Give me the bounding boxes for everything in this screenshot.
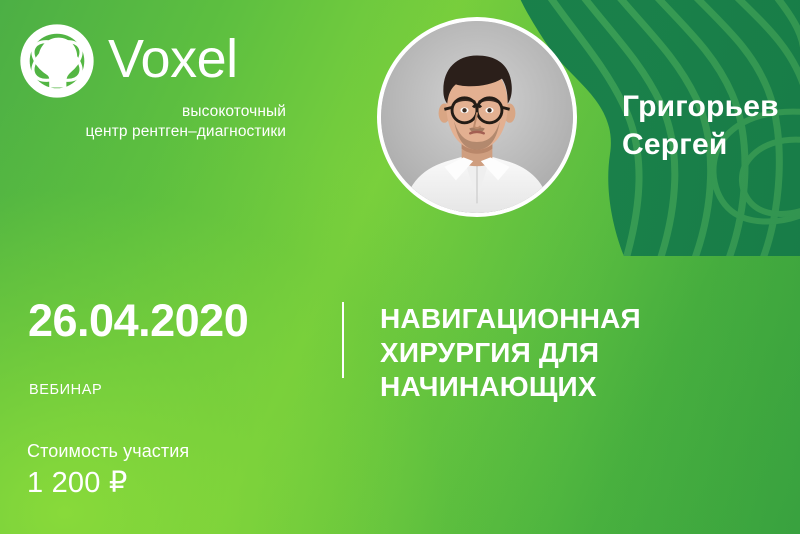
- event-kind-label: ВЕБИНАР: [29, 382, 102, 398]
- speaker-portrait-photo: [377, 17, 577, 217]
- price-value: 1 200 ₽: [27, 465, 127, 500]
- logo-tagline-line1: высокоточный: [18, 102, 286, 122]
- logo-wordmark: Voxel: [108, 32, 238, 86]
- logo-tagline-line2: центр рентген–диагностики: [18, 122, 286, 142]
- head-scan-circle-icon: [18, 22, 96, 100]
- speaker-name: Григорьев Сергей: [622, 88, 779, 163]
- event-date: 26.04.2020: [28, 298, 248, 343]
- vertical-divider: [342, 302, 344, 378]
- brand-logo[interactable]: Voxel высокоточный центр рентген–диагнос…: [18, 22, 288, 142]
- logo-row: Voxel: [18, 22, 288, 100]
- event-title: НАВИГАЦИОННАЯ ХИРУРГИЯ ДЛЯ НАЧИНАЮЩИХ: [380, 302, 710, 404]
- price-label: Стоимость участия: [27, 441, 189, 462]
- logo-tagline: высокоточный центр рентген–диагностики: [18, 102, 288, 142]
- webinar-banner: Voxel высокоточный центр рентген–диагнос…: [0, 0, 800, 534]
